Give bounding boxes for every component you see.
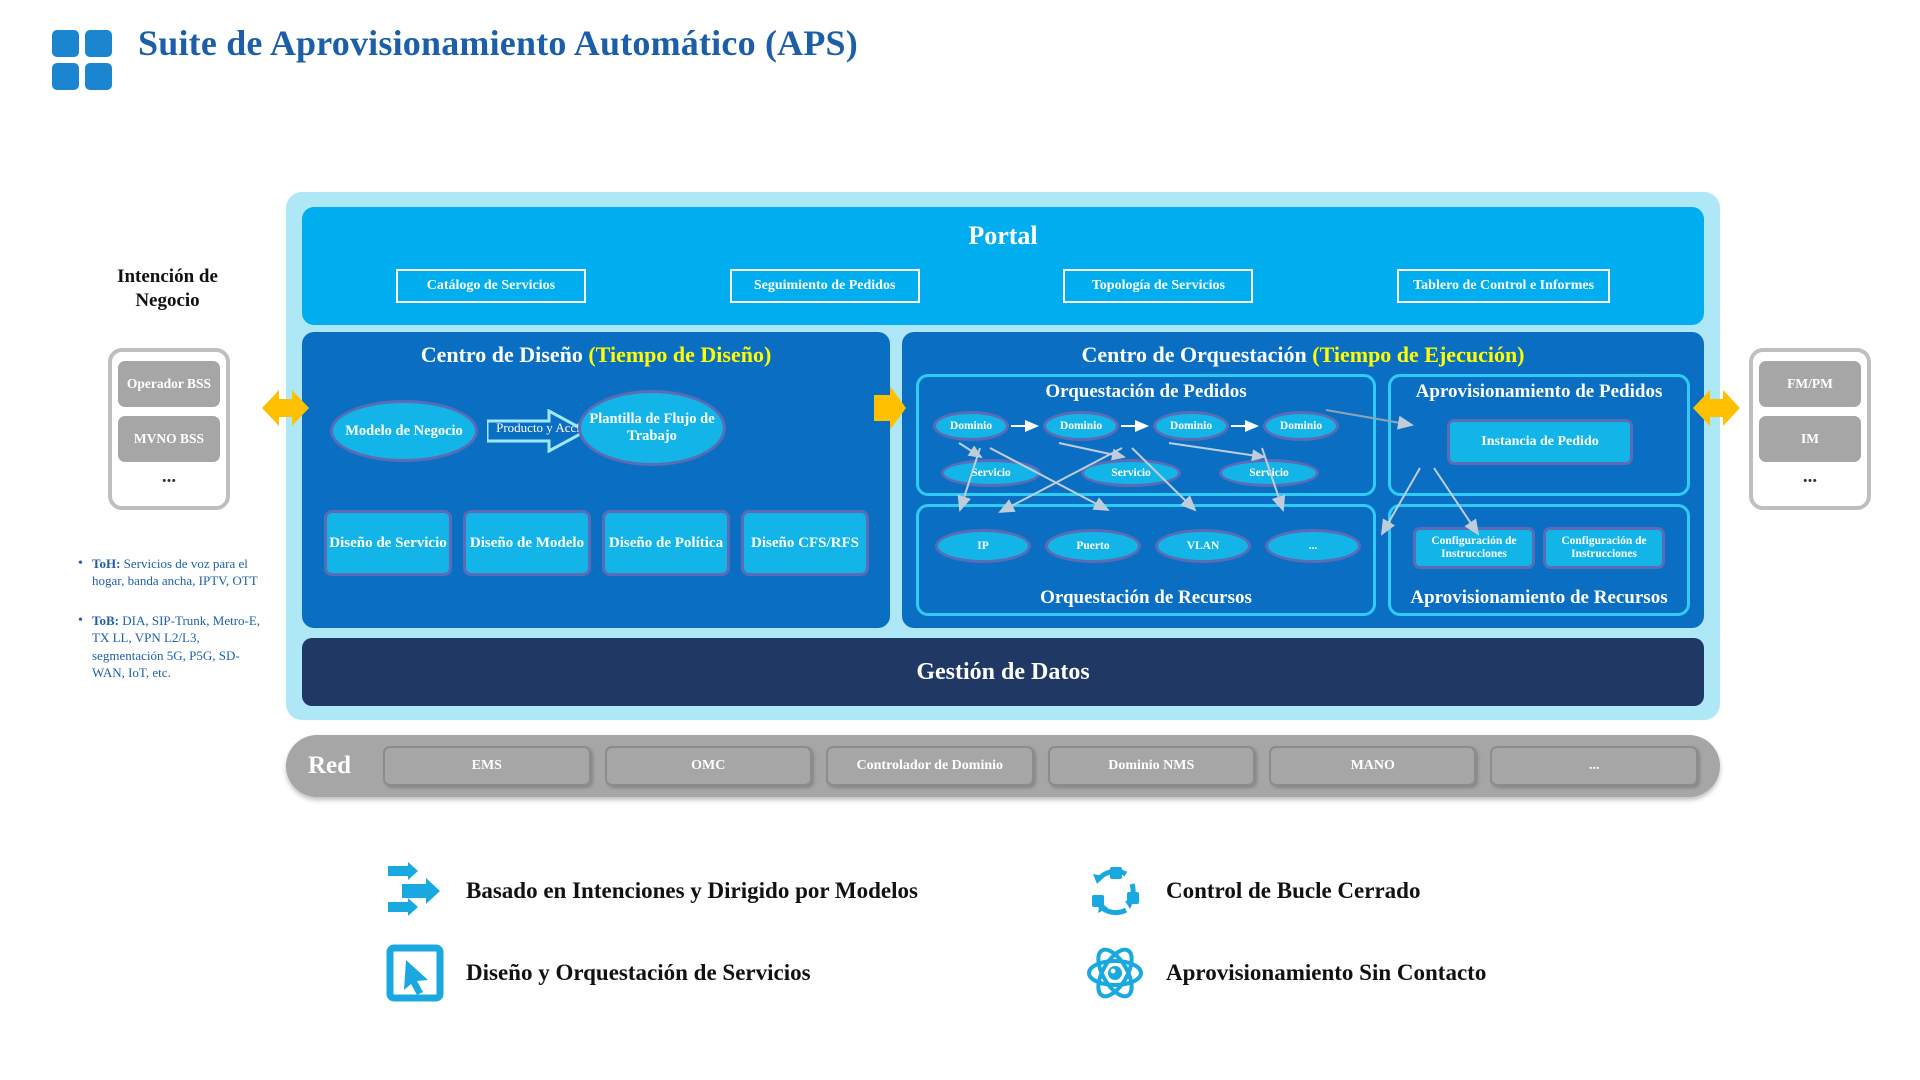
oss-chip-im[interactable]: IM <box>1759 416 1861 462</box>
four-squares-logo-icon <box>52 30 116 94</box>
portal-item-seguimiento[interactable]: Seguimiento de Pedidos <box>730 269 920 303</box>
network-chip-otros[interactable]: ... <box>1490 746 1697 786</box>
resource-provisioning-title: Aprovisionamiento de Recursos <box>1391 587 1687 609</box>
network-chip-mano[interactable]: MANO <box>1269 746 1476 786</box>
order-orchestration-panel: Orquestación de Pedidos Dominio Dominio … <box>916 374 1376 496</box>
cursor-square-icon <box>386 944 444 1002</box>
legend-item-intent-model: Basado en Intenciones y Dirigido por Mod… <box>386 862 918 920</box>
atom-icon <box>1086 944 1144 1002</box>
legend-item-closed-loop: Control de Bucle Cerrado <box>1086 862 1420 920</box>
bullet-list: • ToH: Servicios de voz para el hogar, b… <box>78 555 266 703</box>
arrows-right-icon <box>386 862 444 920</box>
resource-orchestration-title: Orquestación de Recursos <box>919 587 1373 609</box>
oss-ellipsis: ... <box>1753 466 1867 488</box>
bullet-toh-term: ToH: <box>92 556 120 571</box>
oss-chip-fmpm[interactable]: FM/PM <box>1759 361 1861 407</box>
network-chip-dominio-nms[interactable]: Dominio NMS <box>1048 746 1255 786</box>
portal-items: Catálogo de Servicios Seguimiento de Ped… <box>302 269 1704 303</box>
oss-box: FM/PM IM ... <box>1749 348 1871 510</box>
network-chip-controlador-dominio[interactable]: Controlador de Dominio <box>826 746 1033 786</box>
node-vlan[interactable]: VLAN <box>1155 529 1251 563</box>
node-configuracion-instrucciones-1[interactable]: Configuración de Instrucciones <box>1413 527 1535 569</box>
orchestration-center-title-highlight: (Tiempo de Ejecución) <box>1312 342 1524 367</box>
bss-chip-mvno[interactable]: MVNO BSS <box>118 416 220 462</box>
legend-label-closed-loop: Control de Bucle Cerrado <box>1166 878 1420 904</box>
legend-label-service-design: Diseño y Orquestación de Servicios <box>466 960 811 986</box>
portal-item-topologia[interactable]: Topología de Servicios <box>1063 269 1253 303</box>
bullet-tob-text: ToB: DIA, SIP-Trunk, Metro-E, TX LL, VPN… <box>92 612 266 682</box>
node-modelo-de-negocio[interactable]: Modelo de Negocio <box>330 400 478 462</box>
box-diseno-modelo[interactable]: Diseño de Modelo <box>463 510 591 576</box>
box-diseno-politica[interactable]: Diseño de Política <box>602 510 730 576</box>
network-chip-omc[interactable]: OMC <box>605 746 812 786</box>
bss-chip-operador[interactable]: Operador BSS <box>118 361 220 407</box>
order-provisioning-title: Aprovisionamiento de Pedidos <box>1391 377 1687 403</box>
bss-ellipsis: ... <box>112 466 226 488</box>
portal-item-tablero[interactable]: Tablero de Control e Informes <box>1397 269 1610 303</box>
resource-provisioning-panel: Configuración de Instrucciones Configura… <box>1388 504 1690 616</box>
orchestration-center-title: Centro de Orquestación (Tiempo de Ejecuc… <box>902 332 1704 368</box>
bullet-marker: • <box>78 555 92 590</box>
order-orchestration-connectors <box>919 377 1373 493</box>
legend-item-service-design: Diseño y Orquestación de Servicios <box>386 944 811 1002</box>
node-plantilla-flujo-trabajo[interactable]: Plantilla de Flujo de Trabajo <box>578 390 726 466</box>
bullet-marker: • <box>78 612 92 682</box>
design-center-panel: Centro de Diseño (Tiempo de Diseño) Mode… <box>302 332 890 628</box>
design-center-boxes: Diseño de Servicio Diseño de Modelo Dise… <box>324 510 869 576</box>
box-diseno-servicio[interactable]: Diseño de Servicio <box>324 510 452 576</box>
orchestration-center-title-main: Centro de Orquestación <box>1081 342 1312 367</box>
network-label: Red <box>308 752 351 780</box>
data-management-panel: Gestión de Datos <box>302 638 1704 706</box>
bullet-toh: • ToH: Servicios de voz para el hogar, b… <box>78 555 266 590</box>
node-configuracion-instrucciones-2[interactable]: Configuración de Instrucciones <box>1543 527 1665 569</box>
bullet-toh-text: ToH: Servicios de voz para el hogar, ban… <box>92 555 266 590</box>
orchestration-center-panel: Centro de Orquestación (Tiempo de Ejecuc… <box>902 332 1704 628</box>
network-row: Red EMS OMC Controlador de Dominio Domin… <box>286 735 1720 797</box>
bss-box: Operador BSS MVNO BSS ... <box>108 348 230 510</box>
node-ip[interactable]: IP <box>935 529 1031 563</box>
design-center-title-main: Centro de Diseño <box>421 342 589 367</box>
legend-item-zero-touch: Aprovisionamiento Sin Contacto <box>1086 944 1486 1002</box>
portal-item-catalogo[interactable]: Catálogo de Servicios <box>396 269 586 303</box>
legend-label-intent-model: Basado en Intenciones y Dirigido por Mod… <box>466 878 918 904</box>
order-provisioning-panel: Aprovisionamiento de Pedidos Instancia d… <box>1388 374 1690 496</box>
node-instancia-de-pedido[interactable]: Instancia de Pedido <box>1447 419 1633 465</box>
bullet-tob: • ToB: DIA, SIP-Trunk, Metro-E, TX LL, V… <box>78 612 266 682</box>
legend-label-zero-touch: Aprovisionamiento Sin Contacto <box>1166 960 1486 986</box>
bullet-tob-term: ToB: <box>92 613 119 628</box>
node-recurso-otros[interactable]: ... <box>1265 529 1361 563</box>
business-intent-label: Intención de Negocio <box>95 265 240 313</box>
closed-loop-icon <box>1086 862 1144 920</box>
network-chip-ems[interactable]: EMS <box>383 746 590 786</box>
box-diseno-cfs-rfs[interactable]: Diseño CFS/RFS <box>741 510 869 576</box>
design-center-title: Centro de Diseño (Tiempo de Diseño) <box>302 332 890 368</box>
resource-orchestration-panel: IP Puerto VLAN ... Orquestación de Recur… <box>916 504 1376 616</box>
page-title: Suite de Aprovisionamiento Automático (A… <box>138 22 858 64</box>
portal-title: Portal <box>302 221 1704 251</box>
portal-panel: Portal Catálogo de Servicios Seguimiento… <box>302 207 1704 325</box>
design-center-title-highlight: (Tiempo de Diseño) <box>588 342 771 367</box>
node-puerto[interactable]: Puerto <box>1045 529 1141 563</box>
